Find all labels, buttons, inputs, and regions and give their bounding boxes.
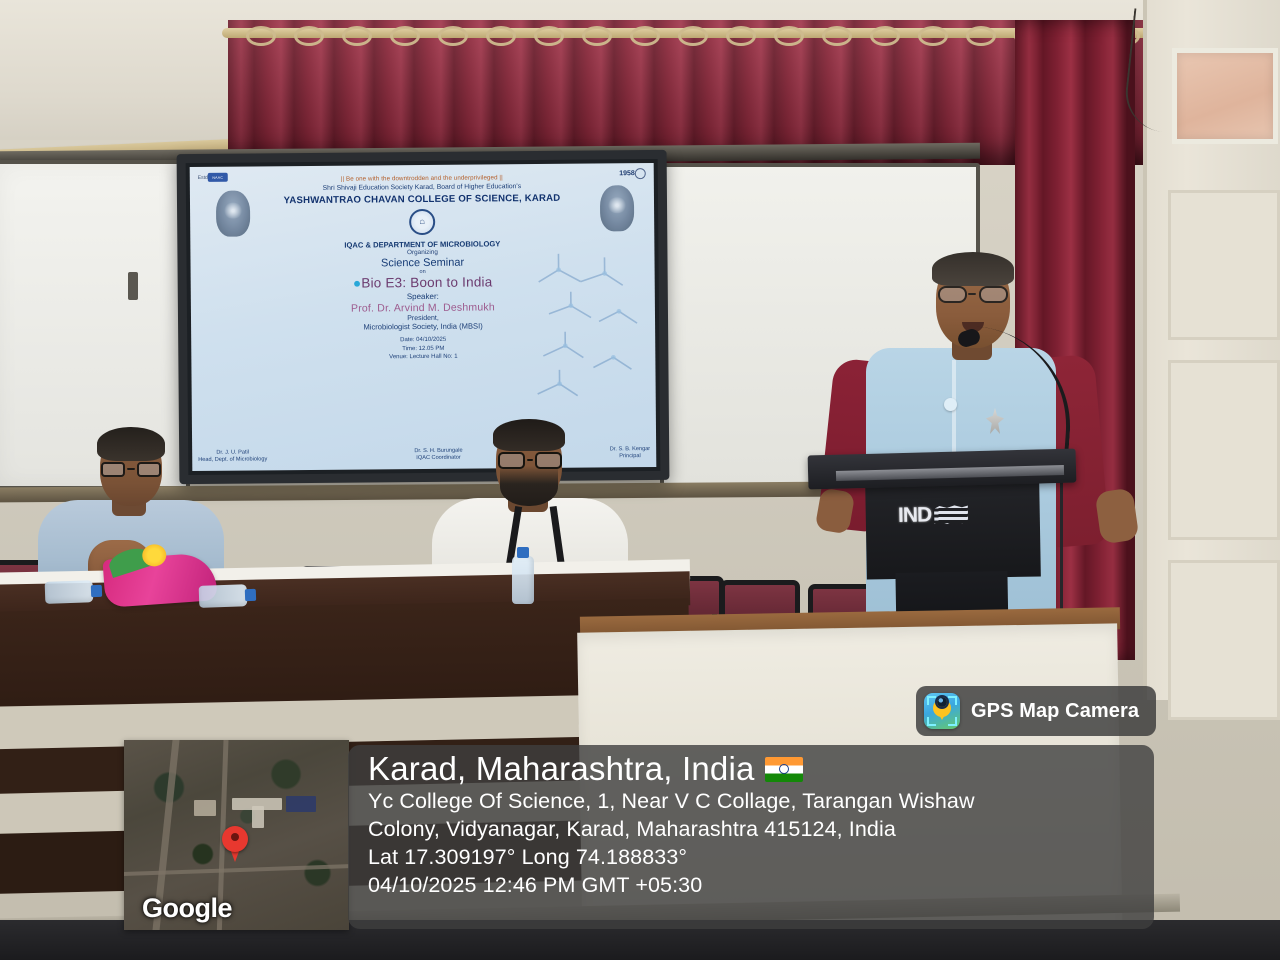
map-building xyxy=(194,800,216,816)
gps-map-camera-label: GPS Map Camera xyxy=(971,700,1139,723)
display-side-buttons[interactable] xyxy=(659,299,667,359)
seated-center-hair xyxy=(493,419,565,451)
gps-city-text: Karad, Maharashtra, India xyxy=(368,751,755,788)
water-bottle xyxy=(45,580,94,604)
map-building xyxy=(252,806,264,828)
podium-brand-text: IND xyxy=(898,503,932,528)
speaker-hair xyxy=(932,252,1014,286)
door-panel-bottom xyxy=(1168,560,1280,720)
speaker-right-hand xyxy=(1095,488,1140,545)
ind-flag-logo-icon xyxy=(934,505,968,526)
gps-address-line-2: Colony, Vidyanagar, Karad, Maharashtra 4… xyxy=(368,816,1140,844)
map-thumbnail[interactable]: Google xyxy=(124,740,349,930)
slide-topic-text: Bio E3: Boon to India xyxy=(361,274,492,290)
seated-left-hair xyxy=(97,427,165,461)
gps-city-line: Karad, Maharashtra, India xyxy=(368,751,1140,788)
door-transom-window xyxy=(1172,48,1278,144)
slide-footer-person-2: Dr. S. H. Burungale IQAC Coordinator xyxy=(414,448,462,464)
interactive-flat-panel-display[interactable]: Estd NAAC 1958 || Be one with the downtr… xyxy=(177,150,670,484)
slide-college-name: YASHWANTRAO CHAVAN COLLEGE OF SCIENCE, K… xyxy=(198,192,646,207)
screenshot-root: Estd NAAC 1958 || Be one with the downtr… xyxy=(0,0,1280,960)
slide-footer-title-1: Head, Dept. of Microbiology xyxy=(198,457,267,464)
gps-coordinates-line: Lat 17.309197° Long 74.188833° xyxy=(368,844,1140,872)
door-panel-middle xyxy=(1168,360,1280,540)
founder-portrait-right xyxy=(600,185,634,231)
college-seal-icon: ☖ xyxy=(409,209,435,235)
google-watermark: Google xyxy=(142,893,232,924)
gps-info-panel: Karad, Maharashtra, India Yc College Of … xyxy=(348,745,1154,929)
whiteboard-clip xyxy=(128,272,138,300)
slide-corner-emblem-icon xyxy=(635,168,646,179)
gps-map-camera-badge: GPS Map Camera xyxy=(916,686,1156,736)
map-building xyxy=(286,796,316,812)
slide-footer-title-2: IQAC Coordinator xyxy=(416,455,461,461)
molecule-graphic xyxy=(518,251,649,422)
gps-timestamp-line: 04/10/2025 12:46 PM GMT +05:30 xyxy=(368,872,1140,900)
bouquet-flower xyxy=(142,544,167,568)
water-bottle xyxy=(199,584,248,608)
map-road xyxy=(124,864,349,877)
slide-footer-title-3: Principal xyxy=(619,454,641,460)
seated-left-eyeglasses-icon xyxy=(101,462,161,477)
naac-logo-icon: NAAC xyxy=(208,173,228,182)
slide-year: 1958 xyxy=(619,170,635,177)
gps-address-line-1: Yc College Of Science, 1, Near V C Colla… xyxy=(368,788,1140,816)
india-flag-icon xyxy=(765,757,803,782)
door-panel-top xyxy=(1168,190,1280,340)
gps-map-camera-icon xyxy=(924,693,960,729)
speaker-jacket-button xyxy=(944,398,957,411)
water-bottle xyxy=(512,556,534,604)
slide-footer-name-3: Dr. S. B. Kengar xyxy=(610,446,650,454)
podium-brand-logo: IND xyxy=(898,499,1009,531)
slide-estd-label: Estd xyxy=(198,174,208,180)
founder-portrait-left xyxy=(216,191,250,237)
display-screen: Estd NAAC 1958 || Be one with the downtr… xyxy=(190,163,657,471)
slide-society: Shri Shivaji Education Society Karad, Bo… xyxy=(198,182,646,193)
slide-footer: Dr. J. U. Patil Head, Dept. of Microbiol… xyxy=(198,446,650,465)
seated-center-eyeglasses-icon xyxy=(498,452,562,469)
slide-footer-person-3: Dr. S. B. Kengar Principal xyxy=(610,446,651,461)
slide-footer-person-1: Dr. J. U. Patil Head, Dept. of Microbiol… xyxy=(198,449,267,465)
seated-center-beard xyxy=(500,466,558,506)
presentation-slide: Estd NAAC 1958 || Be one with the downtr… xyxy=(190,163,657,471)
speaker-eyeglasses-icon xyxy=(938,286,1008,303)
map-pin-icon xyxy=(222,826,248,852)
